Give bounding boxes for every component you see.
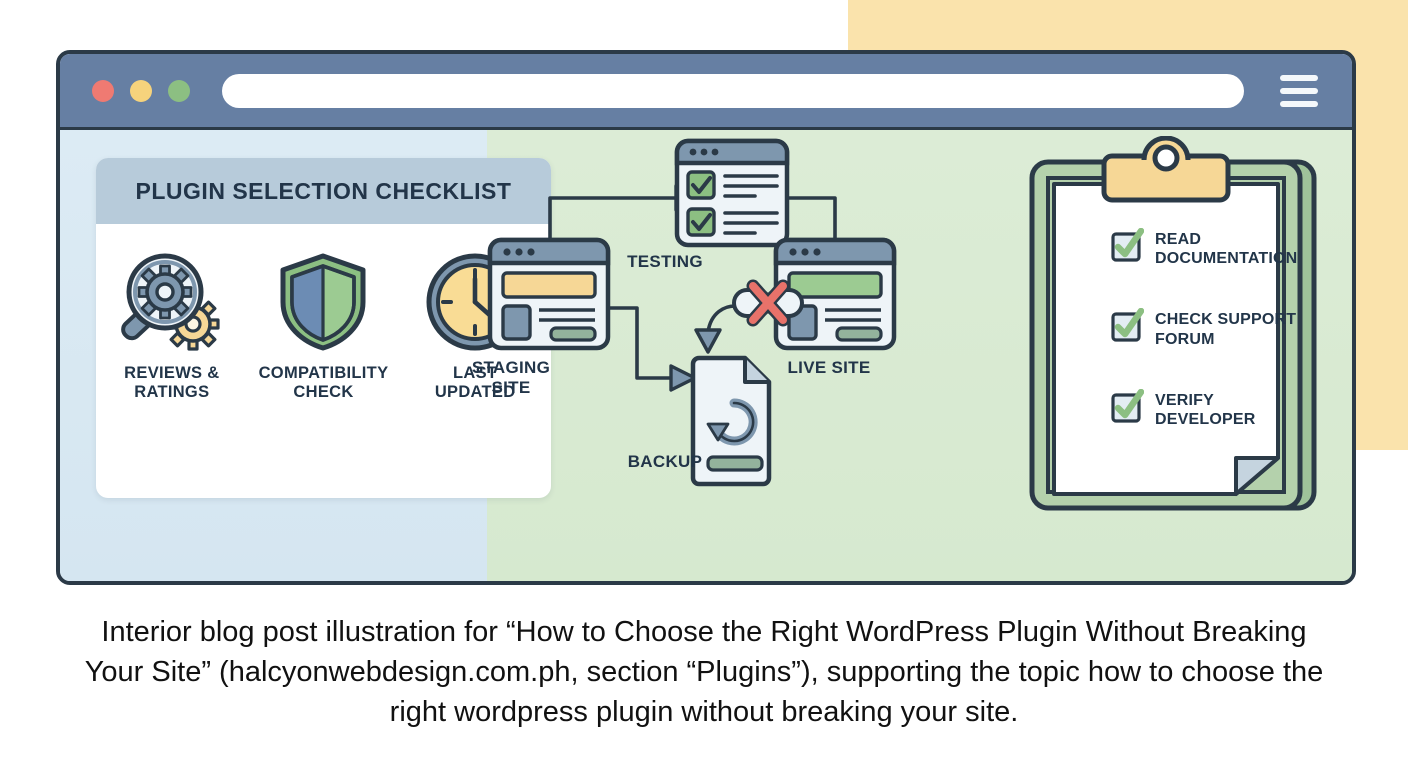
clipboard-item[interactable]: READ DOCUMENTATION bbox=[1110, 228, 1302, 268]
testing-window bbox=[677, 141, 787, 245]
maximize-button-dot[interactable] bbox=[168, 80, 190, 102]
minimize-button-dot[interactable] bbox=[130, 80, 152, 102]
browser-window-mockup: PLUGIN SELECTION CHECKLIST bbox=[56, 50, 1356, 585]
clipboard-item-label: VERIFY DEVELOPER bbox=[1155, 389, 1256, 429]
flow-label-staging-site: STAGING SITE bbox=[421, 358, 601, 397]
shield-icon bbox=[253, 246, 393, 358]
deployment-flow-diagram: TESTING STAGING SITE LIVE SITE BACKUP bbox=[487, 130, 937, 582]
broken-link-x-icon bbox=[734, 286, 802, 320]
browser-chrome bbox=[60, 54, 1352, 130]
feature-reviews-ratings[interactable]: REVIEWS & RATINGS bbox=[102, 246, 242, 403]
verification-clipboard: READ DOCUMENTATION CHECK SUPPORT FORUM bbox=[1026, 136, 1336, 526]
figure-caption: Interior blog post illustration for “How… bbox=[69, 612, 1339, 732]
checkbox-checked-icon[interactable] bbox=[1110, 389, 1144, 423]
flow-label-live-site: LIVE SITE bbox=[739, 358, 919, 378]
magnifier-gear-icon bbox=[102, 246, 242, 358]
traffic-light-buttons bbox=[92, 80, 190, 102]
url-input[interactable] bbox=[222, 74, 1244, 108]
feature-label: COMPATIBILITY CHECK bbox=[253, 364, 393, 403]
clipboard-item-label: READ DOCUMENTATION bbox=[1155, 228, 1297, 268]
illustration-stage: PLUGIN SELECTION CHECKLIST bbox=[0, 0, 1408, 768]
clipboard-item-label: CHECK SUPPORT FORUM bbox=[1155, 308, 1296, 348]
feature-label: REVIEWS & RATINGS bbox=[102, 364, 242, 403]
flow-label-backup: BACKUP bbox=[575, 452, 755, 472]
clipboard-item[interactable]: VERIFY DEVELOPER bbox=[1110, 389, 1302, 429]
checkbox-checked-icon[interactable] bbox=[1110, 228, 1144, 262]
checkbox-checked-icon[interactable] bbox=[1110, 308, 1144, 342]
plugin-selection-checklist-card: PLUGIN SELECTION CHECKLIST bbox=[96, 158, 551, 498]
checklist-title: PLUGIN SELECTION CHECKLIST bbox=[136, 178, 512, 205]
browser-viewport: PLUGIN SELECTION CHECKLIST bbox=[60, 130, 1352, 582]
clipboard-item[interactable]: CHECK SUPPORT FORUM bbox=[1110, 308, 1302, 348]
checklist-card-header: PLUGIN SELECTION CHECKLIST bbox=[96, 158, 551, 224]
clipboard-checklist: READ DOCUMENTATION CHECK SUPPORT FORUM bbox=[1110, 228, 1302, 429]
flow-label-testing: TESTING bbox=[575, 252, 755, 272]
feature-compatibility-check[interactable]: COMPATIBILITY CHECK bbox=[253, 246, 393, 403]
close-button-dot[interactable] bbox=[92, 80, 114, 102]
hamburger-menu-icon[interactable] bbox=[1280, 75, 1318, 107]
